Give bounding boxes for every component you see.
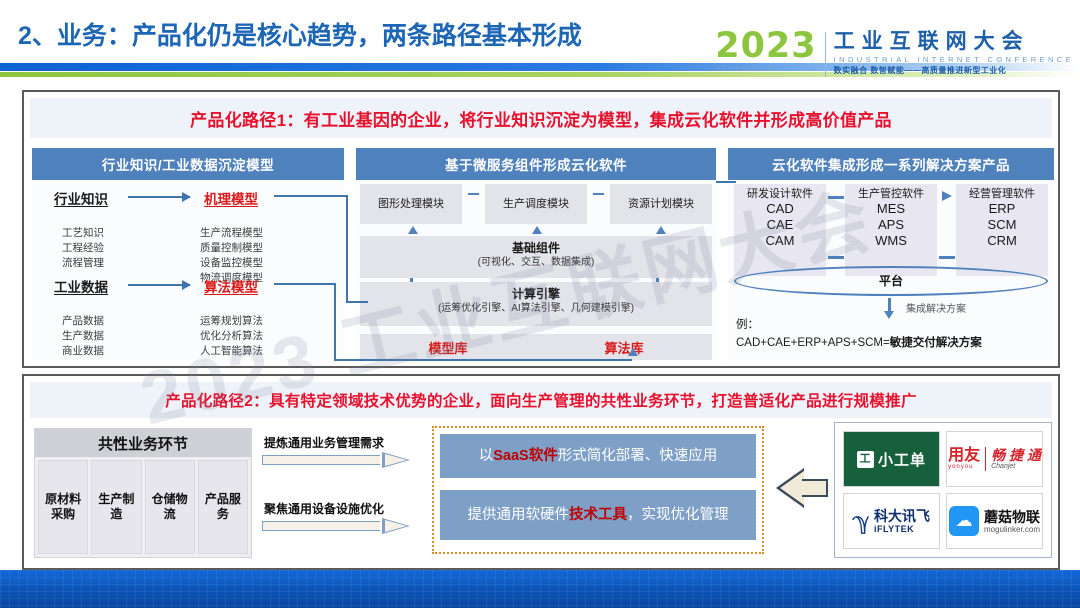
software-group-rd-item-1: CAD [734,201,826,217]
software-group-rd-name: 研发设计软件 [734,187,826,201]
up-arrow-algorithm-library [628,348,638,356]
software-gap-1 [826,184,845,276]
big-arrow-tip-inner [780,471,804,505]
conference-logo: 2023 中国·苏州 8月13日-18日 工业互联网大会 INDUSTRIAL … [715,30,1074,77]
compute-engine-subtitle: (运筹优化引擎、AI算法引擎、几何建模引擎) [362,302,710,316]
flow-arrow-2 [262,518,410,533]
biz-cell-service: 产品服务 [198,460,248,554]
flow-arrow-1 [262,452,410,467]
connector-model-into-lib [346,301,368,303]
software-group-rd-item-3: CAM [734,233,826,249]
yonyou-cn: 用友 [948,448,980,464]
module-box-scheduling: 生产调度模块 [485,184,587,224]
chanjet-en: Chanjet [991,463,1041,470]
left-pointing-big-arrow [776,468,828,508]
up-arrow-graphics [408,226,418,234]
stem-right [656,278,659,282]
xiaogongdan-mark-icon: 工 [857,451,874,468]
mogulinker-cn: 蘑菇物联 [984,509,1040,525]
section-2-title: 产品化路径2：具有特定领域技术优势的企业，面向生产管理的共性业务环节，打造普适化… [165,389,917,411]
connector-algo-horizontal [274,283,336,285]
column-3-body: 研发设计软件 CAD CAE CAM 生产管控软件 MES APS WMS [728,180,1054,362]
compute-engine-title: 计算引擎 [362,286,710,302]
logo-text-group: 工业互联网大会 INDUSTRIAL INTERNET CONFERENCE 数… [834,30,1074,77]
connector-algo-bottom [334,359,632,361]
flow-arrow-2-shaft [262,521,380,531]
vendor-logo-yonyou-chanjet[interactable]: 用友 yonyou 畅 捷 通 Chanjet [946,431,1043,487]
yonyou-en: yonyou [948,464,980,470]
common-business-table: 共性业务环节 原材料采购 生产制造 仓储物流 产品服务 [34,428,252,558]
mogulinker-en: mogulinker.com [984,525,1040,534]
up-arrow-scheduling [532,226,542,234]
module-connector-1 [462,184,485,224]
example-line: CAD+CAE+ERP+APS+SCM=敏捷交付解决方案 [736,334,982,350]
software-arrow-right [942,191,952,201]
algorithm-library-label: 算法库 [536,338,712,357]
dash-link-bottom-2 [939,256,955,259]
flow-label-1: 提炼通用业务管理需求 [264,434,384,451]
connector-col2-to-col3 [716,181,736,183]
saas-dotted-box: 以SaaS软件形式简化部署、快速应用 提供通用软硬件技术工具，实现优化管理 [432,426,764,554]
software-group-mes-name: 生产管控软件 [845,187,937,201]
saas-bar-2-text: 提供通用软硬件技术工具，实现优化管理 [468,506,729,525]
software-group-erp-item-3: CRM [956,233,1048,249]
logo-chinese-name: 工业互联网大会 [834,30,1074,54]
cloud-icon: ☁ [949,506,979,536]
example-label: 例： [736,316,759,332]
stem-left [410,278,413,282]
saas-line2-pre: 提供通用软硬件 [468,507,570,523]
base-components-band: 基础组件 (可视化、交互、数据集成) [360,236,712,278]
chanjet-group: 畅 捷 通 Chanjet [991,448,1041,470]
biz-cell-logistics: 仓储物流 [145,460,195,554]
software-gap-2 [937,184,956,276]
section-1-panel: 产品化路径1：有工业基因的企业，将行业知识沉淀为模型，集成云化软件并形成高价值产… [22,90,1060,368]
footer-band [0,570,1080,608]
slide-root: 2、业务：产品化仍是核心趋势，两条路径基本形成 2023 中国·苏州 8月13日… [0,0,1080,608]
logo-divider [825,32,826,77]
column-2-body: 图形处理模块 生产调度模块 资源计划模块 基础组件 (可视化、交互、数据集成) … [356,180,716,362]
vendor-logo-iflytek[interactable]: ℽ 科大讯飞 iFLYTEK [843,493,940,549]
software-group-mes-item-1: MES [845,201,937,217]
module-box-graphics: 图形处理模块 [360,184,462,224]
saas-bar-1-text: 以SaaS软件形式简化部署、快速应用 [479,447,717,466]
saas-line2-post: ，实现优化管理 [627,507,729,523]
library-row: 模型库 算法库 [360,334,712,360]
dash-link-bottom-1 [828,256,844,259]
iflytek-inner: ℽ 科大讯飞 iFLYTEK [853,508,930,535]
software-groups-row: 研发设计软件 CAD CAE CAM 生产管控软件 MES APS WMS [734,184,1048,276]
software-group-erp-item-2: SCM [956,217,1048,233]
module-box-resource: 资源计划模块 [610,184,712,224]
integrated-solution-label: 集成解决方案 [906,300,966,315]
section-1-column-knowledge: 行业知识/工业数据沉淀模型 行业知识 工艺知识 工程经验 流程管理 机理模型 生… [32,148,344,362]
section-1-column-microservice: 基于微服务组件形成云化软件 图形处理模块 生产调度模块 资源计划模块 基础组件 … [356,148,716,362]
software-group-rd-item-2: CAE [734,217,826,233]
model-library-label: 模型库 [360,338,536,357]
flow-arrow-1-tip-inner [385,454,407,466]
software-group-mes-item-2: APS [845,217,937,233]
xiaogongdan-text: 小工单 [878,449,926,470]
example-result: 敏捷交付解决方案 [890,337,982,349]
logo-english-name: INDUSTRIAL INTERNET CONFERENCE [834,54,1074,65]
industrial-data-heading: 工业数据 [54,276,108,296]
chanjet-cn: 畅 捷 通 [991,448,1041,463]
logo-year-group: 2023 中国·苏州 8月13日-18日 [715,30,816,72]
mogulinker-inner: ☁ 蘑菇物联 mogulinker.com [949,506,1040,536]
connector-model-vertical [346,195,348,303]
software-group-erp: 经营管理软件 ERP SCM CRM [956,184,1048,276]
platform-down-arrow [888,298,891,312]
logo-year: 2023 [715,30,816,63]
connector-algo-vertical [334,283,336,361]
arrow-knowledge-to-model [128,196,190,198]
saas-line1-post: 形式简化部署、快速应用 [558,448,718,464]
common-business-cells: 原材料采购 生产制造 仓储物流 产品服务 [35,457,251,557]
algorithm-model-items: 运筹规划算法 优化分析算法 人工智能算法 [200,314,263,359]
section-2-title-band: 产品化路径2：具有特定领域技术优势的企业，面向生产管理的共性业务环节，打造普适化… [30,382,1052,418]
biz-cell-manufacturing: 生产制造 [91,460,141,554]
vendor-logo-mogulinker[interactable]: ☁ 蘑菇物联 mogulinker.com [946,493,1043,549]
biz-cell-procurement: 原材料采购 [38,460,88,554]
section-2-panel: 产品化路径2：具有特定领域技术优势的企业，面向生产管理的共性业务环节，打造普适化… [22,374,1060,570]
column-2-header: 基于微服务组件形成云化软件 [356,148,716,180]
software-group-erp-item-1: ERP [956,201,1048,217]
logo-tagline: 数实融合 数智赋能——高质量推进新型工业化 [834,65,1074,77]
logo-year-subtitle: 中国·苏州 8月13日-18日 [715,65,816,72]
flow-label-2: 聚焦通用设备设施优化 [264,500,384,517]
industry-knowledge-items: 工艺知识 工程经验 流程管理 [62,226,104,271]
flow-arrow-1-shaft [262,455,380,465]
flow-arrow-2-tip-inner [385,520,407,532]
industry-knowledge-heading: 行业知识 [54,188,108,208]
base-components-title: 基础组件 [362,240,710,256]
software-group-mes: 生产管控软件 MES APS WMS [845,184,937,276]
section-1-title: 产品化路径1：有工业基因的企业，将行业知识沉淀为模型，集成云化软件并形成高价值产… [190,106,892,131]
saas-line1-bold: SaaS软件 [493,448,557,464]
iflytek-en: iFLYTEK [874,524,930,534]
mechanism-model-heading: 机理模型 [204,188,258,208]
yonyou-group: 用友 yonyou [948,448,980,470]
xiaogongdan-inner: 工 小工单 [844,432,939,486]
software-group-mes-item-3: WMS [845,233,937,249]
column-1-header: 行业知识/工业数据沉淀模型 [32,148,344,180]
section-1-column-solutions: 云化软件集成形成一系列解决方案产品 研发设计软件 CAD CAE CAM 生产管… [728,148,1054,362]
mogulinker-text-group: 蘑菇物联 mogulinker.com [984,509,1040,534]
software-group-erp-name: 经营管理软件 [956,187,1048,201]
yonyou-inner: 用友 yonyou 畅 捷 通 Chanjet [948,447,1041,471]
platform-label: 平台 [728,272,1054,289]
vendor-logo-xiaogongdan[interactable]: 工 小工单 [843,431,940,487]
column-3-header: 云化软件集成形成一系列解决方案产品 [728,148,1054,180]
saas-line2-bold: 技术工具 [569,507,627,523]
saas-bar-1: 以SaaS软件形式简化部署、快速应用 [440,434,756,478]
example-formula: CAD+CAE+ERP+APS+SCM= [736,337,890,349]
big-arrow-shaft [802,479,828,497]
common-business-header: 共性业务环节 [35,429,251,457]
base-components-subtitle: (可视化、交互、数据集成) [362,256,710,270]
section-1-title-band: 产品化路径1：有工业基因的企业，将行业知识沉淀为模型，集成云化软件并形成高价值产… [30,98,1052,138]
module-connector-2 [587,184,610,224]
iflytek-text-group: 科大讯飞 iFLYTEK [874,509,930,534]
iflytek-mark-icon: ℽ [853,508,870,535]
module-row: 图形处理模块 生产调度模块 资源计划模块 [360,184,712,224]
saas-bar-2: 提供通用软硬件技术工具，实现优化管理 [440,490,756,540]
software-group-rd: 研发设计软件 CAD CAE CAM [734,184,826,276]
algorithm-model-heading: 算法模型 [204,276,258,296]
up-arrow-resource [656,226,666,234]
page-title: 2、业务：产品化仍是核心趋势，两条路径基本形成 [18,16,582,52]
dash-link-top-1 [828,196,844,199]
connector-model-horizontal [274,195,348,197]
arrow-data-to-algorithm [128,284,190,286]
iflytek-cn: 科大讯飞 [874,509,930,524]
saas-line1-pre: 以 [479,448,494,464]
vendor-logo-panel: 工 小工单 用友 yonyou 畅 捷 通 Chanjet [834,422,1052,558]
industrial-data-items: 产品数据 生产数据 商业数据 [62,314,104,359]
yonyou-divider [985,447,986,471]
column-1-body: 行业知识 工艺知识 工程经验 流程管理 机理模型 生产流程模型 质量控制模型 设… [32,180,344,362]
compute-engine-band: 计算引擎 (运筹优化引擎、AI算法引擎、几何建模引擎) [360,282,712,326]
